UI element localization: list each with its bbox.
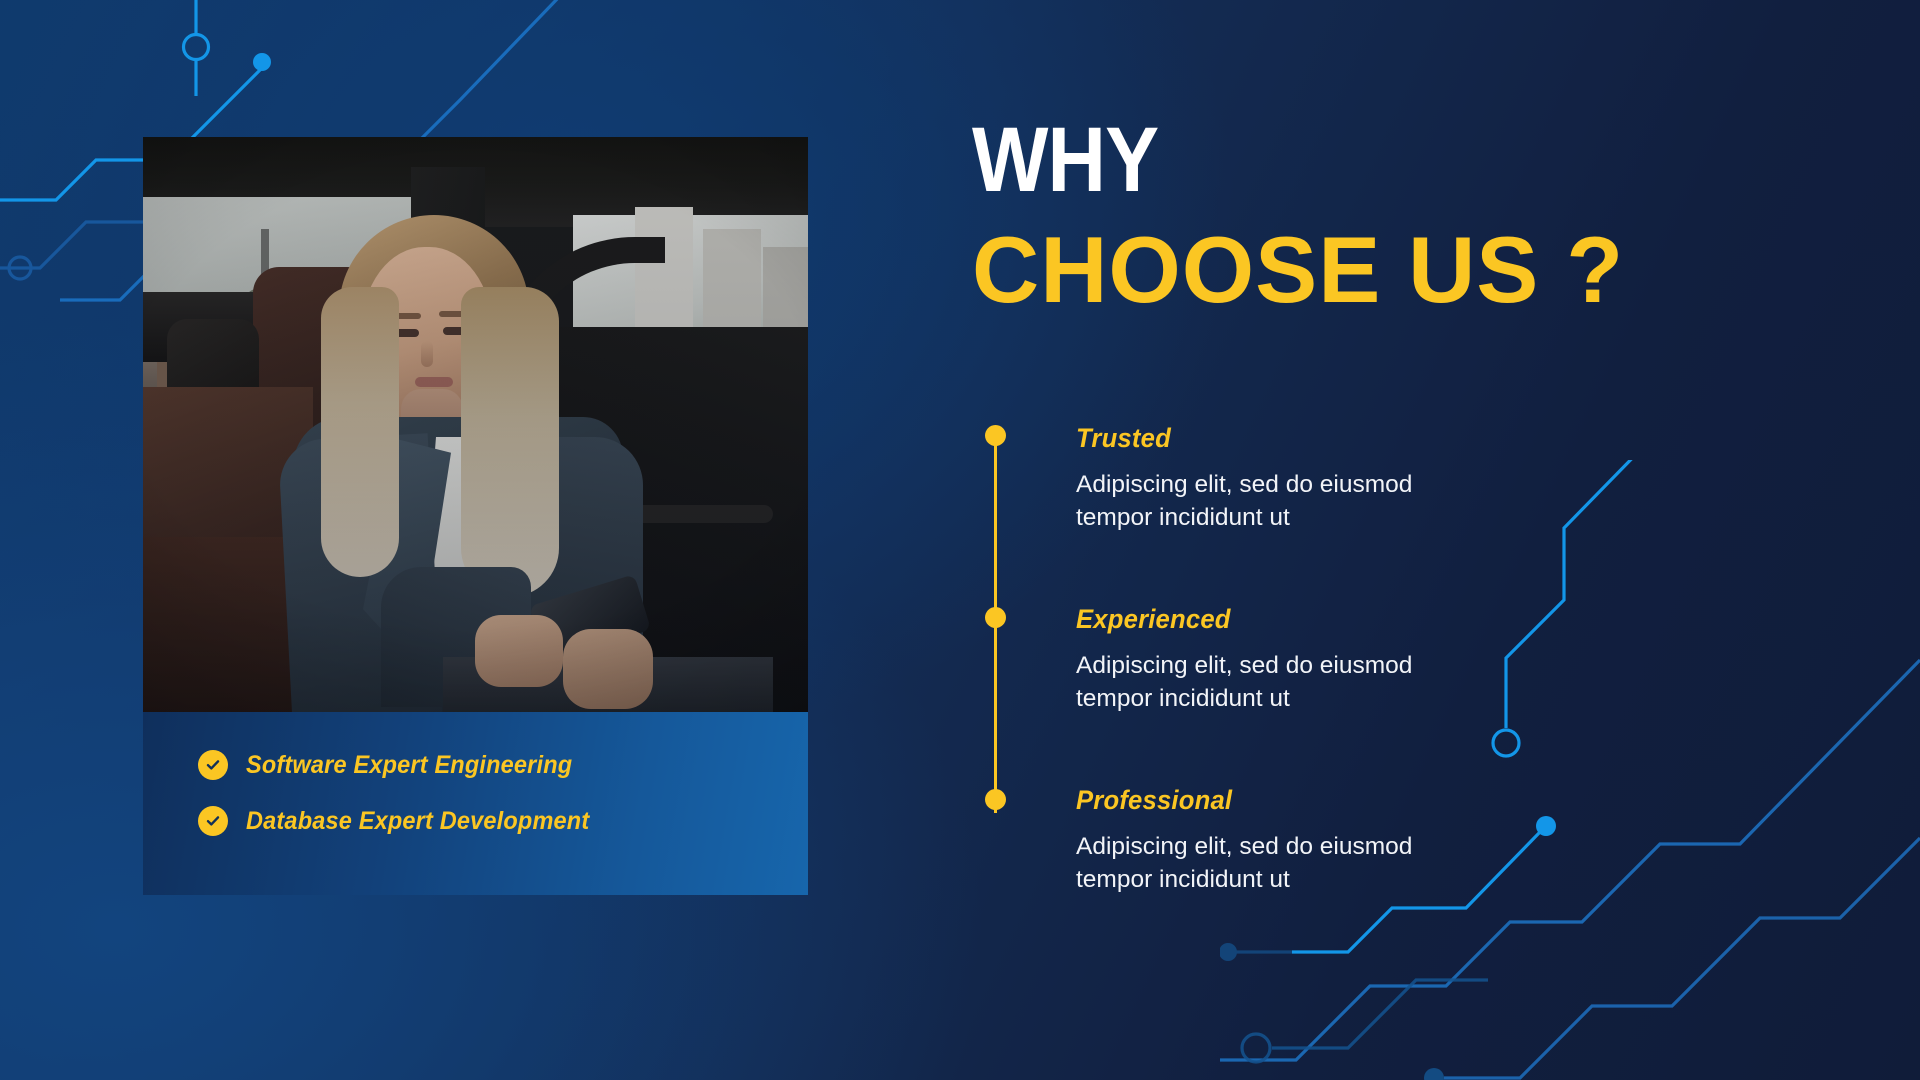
feature-item-database[interactable]: Database Expert Development bbox=[198, 806, 798, 836]
timeline-dot-icon bbox=[985, 789, 1006, 810]
timeline-item-trusted[interactable]: Trusted Adipiscing elit, sed do eiusmod … bbox=[982, 425, 1772, 535]
page-title: WHY CHOOSE US ? bbox=[972, 118, 1631, 313]
content-column: WHY CHOOSE US ? Trusted Adipiscing elit,… bbox=[972, 0, 1872, 1080]
feature-item-software[interactable]: Software Expert Engineering bbox=[198, 750, 798, 780]
check-circle-icon bbox=[198, 806, 228, 836]
slide-canvas: Software Expert Engineering Database Exp… bbox=[0, 0, 1920, 1080]
hero-photo bbox=[143, 137, 808, 712]
timeline-item-heading: Trusted bbox=[1076, 425, 1737, 452]
timeline-item-body: Adipiscing elit, sed do eiusmod tempor i… bbox=[1076, 650, 1476, 716]
feature-item-label: Database Expert Development bbox=[246, 807, 589, 836]
photo-vignette bbox=[143, 137, 808, 712]
feature-band: Software Expert Engineering Database Exp… bbox=[143, 712, 808, 895]
title-line-choose-us: CHOOSE US ? bbox=[972, 226, 1624, 313]
timeline-item-body: Adipiscing elit, sed do eiusmod tempor i… bbox=[1076, 469, 1476, 535]
timeline-dot-icon bbox=[985, 607, 1006, 628]
timeline-item-heading: Professional bbox=[1076, 787, 1737, 814]
check-circle-icon bbox=[198, 750, 228, 780]
feature-item-label: Software Expert Engineering bbox=[246, 751, 572, 780]
feature-list: Software Expert Engineering Database Exp… bbox=[198, 750, 798, 836]
timeline-item-heading: Experienced bbox=[1076, 606, 1737, 633]
timeline-item-experienced[interactable]: Experienced Adipiscing elit, sed do eius… bbox=[982, 606, 1772, 716]
title-line-why: WHY bbox=[972, 118, 1552, 204]
timeline-dot-icon bbox=[985, 425, 1006, 446]
timeline-item-body: Adipiscing elit, sed do eiusmod tempor i… bbox=[1076, 831, 1476, 897]
timeline-item-professional[interactable]: Professional Adipiscing elit, sed do eiu… bbox=[982, 787, 1772, 897]
